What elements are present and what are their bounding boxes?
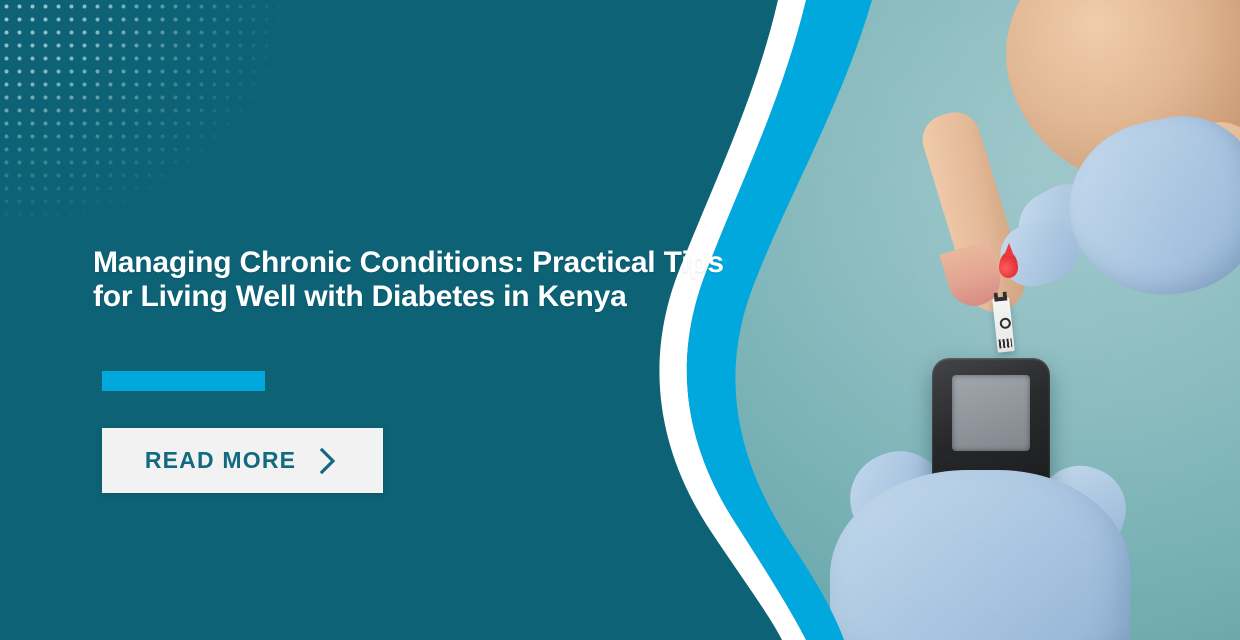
read-more-button[interactable]: READ MORE [102,428,383,493]
accent-bar [102,371,265,391]
halftone-dot-pattern [0,0,290,230]
page-title: Managing Chronic Conditions: Practical T… [93,246,733,314]
read-more-label: READ MORE [145,447,296,474]
banner-content: Managing Chronic Conditions: Practical T… [93,246,733,314]
curved-divider [560,0,880,640]
chevron-right-icon [316,446,340,476]
promo-banner: Managing Chronic Conditions: Practical T… [0,0,1240,640]
